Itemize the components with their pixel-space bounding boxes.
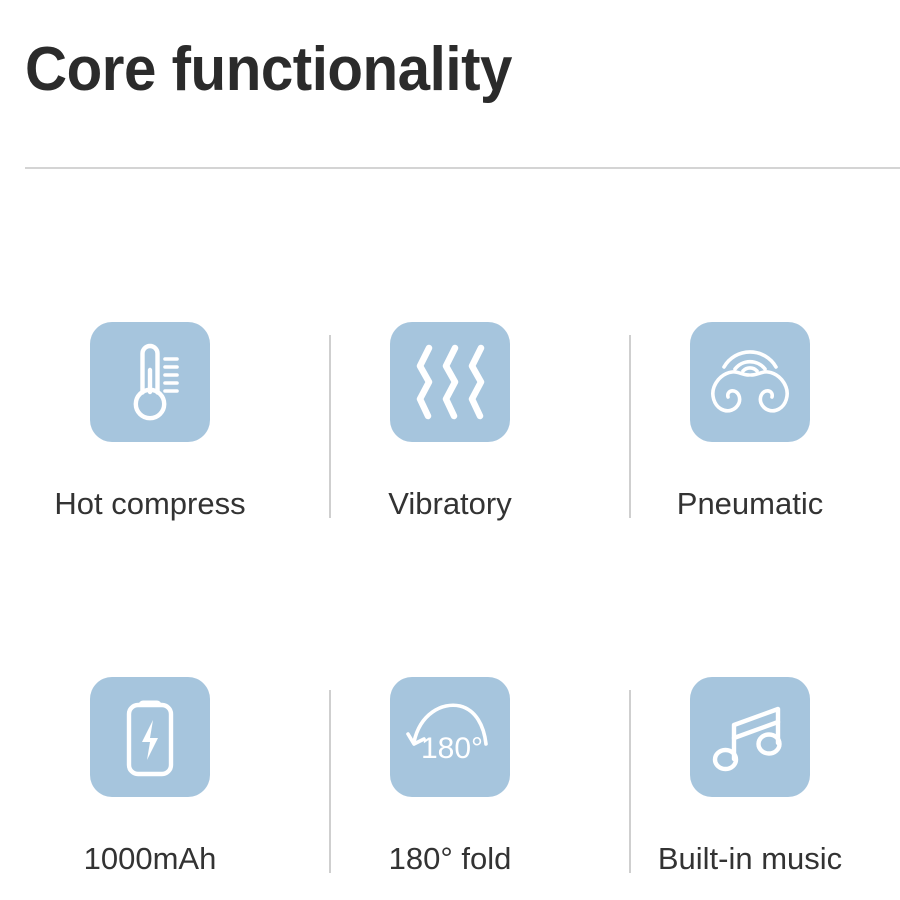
music-note-icon bbox=[712, 697, 788, 777]
feature-grid: Hot compress Vibratory bbox=[0, 300, 900, 900]
title-divider bbox=[25, 167, 900, 169]
feature-icon-tile: 180° bbox=[390, 677, 510, 797]
feature-row: 1000mAh 180° 180° fold bbox=[0, 655, 900, 900]
thermometer-icon bbox=[113, 340, 187, 424]
feature-icon-tile bbox=[690, 677, 810, 797]
feature-label: 1000mAh bbox=[84, 841, 217, 877]
feature-label: Pneumatic bbox=[677, 486, 823, 522]
pneumatic-airbag-icon bbox=[708, 345, 792, 419]
feature-label: Hot compress bbox=[54, 486, 245, 522]
feature-cell-hot-compress[interactable]: Hot compress bbox=[0, 300, 300, 545]
vibration-waves-icon bbox=[413, 342, 487, 422]
feature-row: Hot compress Vibratory bbox=[0, 300, 900, 545]
rotate-180-arrow-icon: 180° bbox=[404, 696, 496, 778]
feature-icon-tile bbox=[390, 322, 510, 442]
cell-divider bbox=[329, 690, 331, 873]
cell-divider bbox=[629, 335, 631, 518]
rotate-180-icon-text: 180° bbox=[421, 732, 483, 765]
feature-icon-tile bbox=[90, 677, 210, 797]
feature-icon-tile bbox=[90, 322, 210, 442]
page-title: Core functionality bbox=[25, 34, 512, 106]
feature-cell-battery[interactable]: 1000mAh bbox=[0, 655, 300, 900]
feature-overview-page: Core functionality bbox=[0, 0, 900, 900]
feature-cell-music[interactable]: Built-in music bbox=[600, 655, 900, 900]
feature-label: 180° fold bbox=[389, 841, 512, 877]
feature-icon-tile bbox=[690, 322, 810, 442]
battery-charge-icon bbox=[119, 694, 181, 780]
feature-label: Vibratory bbox=[388, 486, 512, 522]
feature-cell-pneumatic[interactable]: Pneumatic bbox=[600, 300, 900, 545]
feature-cell-vibratory[interactable]: Vibratory bbox=[300, 300, 600, 545]
cell-divider bbox=[329, 335, 331, 518]
feature-cell-180-fold[interactable]: 180° 180° fold bbox=[300, 655, 600, 900]
cell-divider bbox=[629, 690, 631, 873]
feature-label: Built-in music bbox=[658, 841, 842, 877]
